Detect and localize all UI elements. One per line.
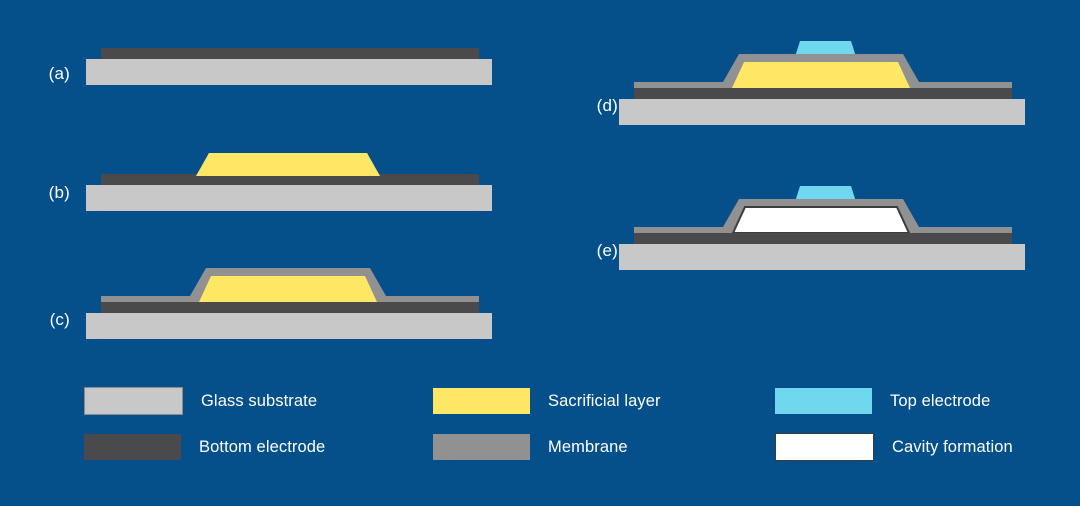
legend-item-cavity-formation: Cavity formation bbox=[775, 424, 1013, 470]
panel-label-c: (c) bbox=[30, 310, 70, 330]
glass-substrate-layer bbox=[86, 59, 492, 85]
bottom-electrode-swatch bbox=[84, 434, 181, 460]
legend-column-1: Glass substrate Bottom electrode bbox=[84, 378, 325, 470]
glass-substrate-layer bbox=[619, 244, 1025, 270]
legend-item-top-electrode: Top electrode bbox=[775, 378, 1013, 424]
legend-column-3: Top electrode Cavity formation bbox=[775, 378, 1013, 470]
top-electrode-swatch bbox=[775, 388, 872, 414]
legend-label-membrane: Membrane bbox=[548, 438, 628, 457]
legend-label-top-electrode: Top electrode bbox=[890, 392, 990, 411]
bottom-electrode-layer bbox=[101, 48, 479, 59]
legend-item-glass-substrate: Glass substrate bbox=[84, 378, 325, 424]
panel-label-b: (b) bbox=[30, 183, 70, 203]
legend-column-2: Sacrificial layer Membrane bbox=[433, 378, 661, 470]
legend-item-membrane: Membrane bbox=[433, 424, 661, 470]
cavity-formation-layer bbox=[733, 207, 909, 233]
panel-e-stack bbox=[619, 183, 1027, 269]
panel-b-stack bbox=[86, 148, 494, 208]
bottom-electrode-layer bbox=[634, 233, 1012, 244]
sacrificial-layer-front bbox=[196, 153, 380, 176]
sacrificial-layer-layer bbox=[732, 62, 910, 88]
glass-substrate-layer bbox=[619, 99, 1025, 125]
bottom-electrode-layer bbox=[101, 302, 479, 313]
glass-substrate-swatch bbox=[84, 387, 183, 415]
legend: Glass substrate Bottom electrode Sacrifi… bbox=[0, 378, 1080, 478]
legend-label-bottom-electrode: Bottom electrode bbox=[199, 438, 325, 457]
glass-substrate-layer bbox=[86, 185, 492, 211]
panel-a-stack bbox=[86, 48, 494, 88]
legend-label-cavity-formation: Cavity formation bbox=[892, 438, 1013, 457]
bottom-electrode-layer bbox=[634, 88, 1012, 99]
panel-label-d: (d) bbox=[578, 96, 618, 116]
process-flow-figure: (a) (b) (c) (d) bbox=[0, 0, 1080, 506]
legend-item-sacrificial-layer: Sacrificial layer bbox=[433, 378, 661, 424]
panel-d-stack bbox=[619, 38, 1027, 124]
panel-c-stack bbox=[86, 262, 494, 338]
glass-substrate-layer bbox=[86, 313, 492, 339]
legend-label-glass-substrate: Glass substrate bbox=[201, 392, 317, 411]
cavity-formation-swatch bbox=[775, 433, 874, 461]
sacrificial-layer-swatch bbox=[433, 388, 530, 414]
legend-item-bottom-electrode: Bottom electrode bbox=[84, 424, 325, 470]
sacrificial-layer-layer bbox=[199, 276, 377, 302]
panel-label-a: (a) bbox=[30, 64, 70, 84]
panel-label-e: (e) bbox=[578, 241, 618, 261]
legend-label-sacrificial-layer: Sacrificial layer bbox=[548, 392, 661, 411]
membrane-swatch bbox=[433, 434, 530, 460]
